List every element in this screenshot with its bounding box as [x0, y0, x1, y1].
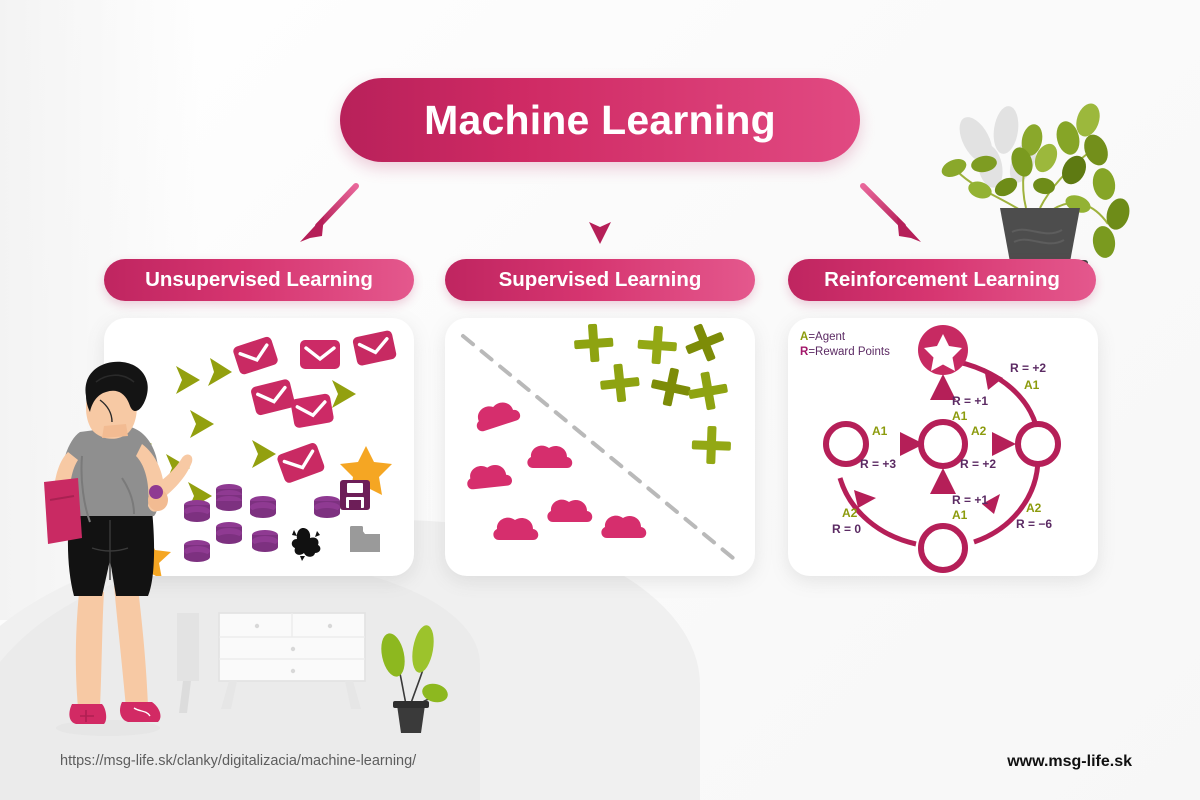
category-pill-supervised[interactable]: Supervised Learning	[445, 259, 755, 301]
label-r-center-goal: R = +1	[952, 394, 988, 408]
dresser-illustration	[175, 605, 455, 740]
category-pill-reinforcement[interactable]: Reinforcement Learning	[788, 259, 1096, 301]
category-pill-unsupervised[interactable]: Unsupervised Learning	[104, 259, 414, 301]
source-url[interactable]: https://msg-life.sk/clanky/digitalizacia…	[60, 753, 416, 769]
label-r-left-center: R = +3	[860, 457, 896, 471]
plus-sign-icon	[573, 318, 732, 465]
category-label-supervised: Supervised Learning	[499, 268, 702, 292]
legend-value-reward: Reward Points	[815, 346, 890, 358]
label-a1-center-goal: A1	[952, 409, 967, 423]
label-r-bottom-center: R = +1	[952, 493, 988, 507]
arrow-down-left-icon	[290, 182, 370, 252]
label-r-center-right: R = +2	[960, 457, 996, 471]
label-a2-bottom-left: A2	[842, 506, 857, 520]
page-title: Machine Learning	[340, 78, 860, 162]
cloud-icon	[466, 398, 647, 540]
label-r-bottom-left: R = 0	[832, 522, 861, 536]
supervised-learning-panel	[445, 318, 755, 576]
rl-legend-row-reward: R=Reward Points	[800, 345, 890, 360]
category-label-reinforcement: Reinforcement Learning	[824, 268, 1060, 292]
category-label-unsupervised: Unsupervised Learning	[145, 268, 373, 292]
rl-legend-row-agent: A=Agent	[800, 330, 890, 345]
state-node-right	[1018, 424, 1058, 464]
infographic-canvas: Machine Learning	[0, 0, 1200, 800]
state-node-center	[921, 422, 965, 466]
arrow-down-right-icon	[855, 182, 935, 252]
floppy-disk-icon	[340, 480, 370, 510]
goal-node-star	[918, 325, 968, 375]
state-node-bottom	[921, 526, 965, 570]
folder-icon	[350, 526, 380, 552]
label-a2-right-bottom: A2	[1026, 501, 1041, 515]
label-a1-left-center: A1	[872, 424, 887, 438]
page-title-text: Machine Learning	[424, 97, 776, 144]
legend-value-agent: Agent	[815, 331, 845, 343]
label-a2-center-right: A2	[971, 424, 986, 438]
brand-website[interactable]: www.msg-life.sk	[1007, 753, 1132, 771]
arrow-down-icon	[580, 182, 620, 252]
label-r-right-goal: R = +2	[1010, 361, 1046, 375]
arrowhead-right-goal	[984, 368, 1003, 390]
label-a1-right-goal: A1	[1024, 378, 1039, 392]
reinforcement-learning-panel: A=Agent R=Reward Points	[788, 318, 1098, 576]
rl-legend: A=Agent R=Reward Points	[800, 330, 890, 360]
small-potted-plant-illustration	[378, 624, 450, 733]
label-a1-bottom-center: A1	[952, 508, 967, 522]
ink-blot-icon	[292, 528, 321, 561]
label-r-right-bottom: R = −6	[1016, 517, 1052, 531]
potted-trailing-plant-illustration	[928, 92, 1153, 277]
